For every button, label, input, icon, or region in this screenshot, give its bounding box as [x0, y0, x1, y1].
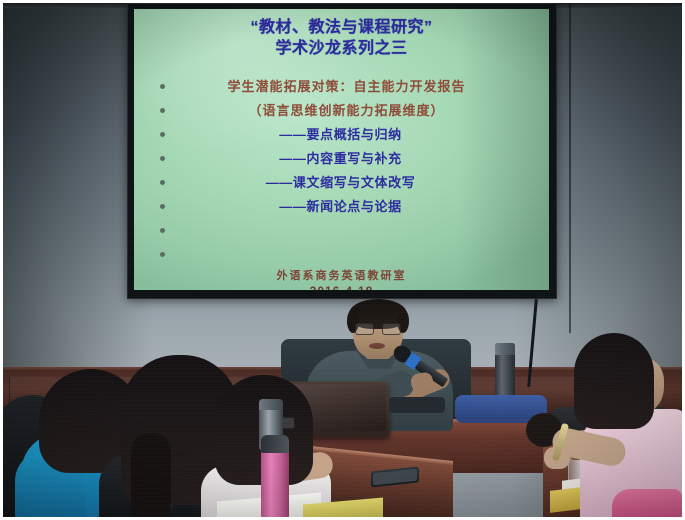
thermos-cap: [259, 399, 283, 410]
wall-seam: [569, 3, 571, 333]
desk-object-dark: [389, 397, 445, 413]
bullet-dot-icon: [160, 252, 165, 257]
slide-bullet-row: ——新闻论点与论据: [160, 195, 539, 219]
slide-bullet-row-empty: [160, 219, 539, 243]
bottle-cap: [261, 435, 289, 453]
bullet-dot-icon: [160, 156, 165, 161]
bullet-dot-icon: [160, 132, 165, 137]
lecture-room-scene: “教材、教法与课程研究” 学术沙龙系列之三 学生潜能拓展对策：自主能力开发报告 …: [3, 3, 682, 517]
slide-bullet-text: 学生潜能拓展对策：自主能力开发报告: [160, 79, 539, 95]
bullet-dot-icon: [160, 84, 165, 89]
slide-title: “教材、教法与课程研究” 学术沙龙系列之三: [134, 17, 549, 59]
audience-ponytail: [131, 433, 171, 517]
slide-bullet-row: 学生潜能拓展对策：自主能力开发报告: [160, 75, 539, 99]
slide-bullet-list: 学生潜能拓展对策：自主能力开发报告 （语言思维创新能力拓展维度） ——要点概括与…: [160, 75, 539, 267]
screen-glare: [134, 9, 405, 191]
screen-right-shading: [458, 9, 549, 290]
slide-bullet-text: ——要点概括与归纳: [160, 127, 539, 143]
audience-pink-shirt-hair: [574, 333, 654, 429]
thermos-cap: [495, 343, 515, 355]
bullet-dot-icon: [160, 204, 165, 209]
presenter-mouth: [369, 343, 385, 349]
slide-footer-organization: 外语系商务英语教研室: [134, 267, 549, 283]
bullet-dot-icon: [160, 108, 165, 113]
slide-bullet-text: ——课文缩写与文体改写: [160, 175, 539, 191]
bullet-dot-icon: [160, 180, 165, 185]
thermos-flask: [495, 343, 515, 403]
slide-bullet-text: （语言思维创新能力拓展维度）: [160, 103, 539, 119]
pink-water-bottle: [261, 435, 289, 517]
slide-bullet-row: ——课文缩写与文体改写: [160, 171, 539, 195]
projection-screen-frame: “教材、教法与课程研究” 学术沙龙系列之三 学生潜能拓展对策：自主能力开发报告 …: [127, 3, 557, 299]
slide-title-line-2: 学术沙龙系列之三: [134, 38, 549, 59]
presenter-glasses: [355, 323, 401, 333]
slide-bullet-row: （语言思维创新能力拓展维度）: [160, 99, 539, 123]
slide-footer-date: 2016-4-18: [134, 284, 549, 290]
slide-bullet-row-empty: [160, 243, 539, 267]
slide-title-line-1: “教材、教法与课程研究”: [134, 17, 549, 38]
slide-bullet-row: ——要点概括与归纳: [160, 123, 539, 147]
slide-bullet-row: ——内容重写与补充: [160, 147, 539, 171]
slide-bullet-text: ——新闻论点与论据: [160, 199, 539, 215]
photograph: “教材、教法与课程研究” 学术沙龙系列之三 学生潜能拓展对策：自主能力开发报告 …: [0, 0, 685, 520]
bullet-dot-icon: [160, 228, 165, 233]
audience-pink-garment: [612, 489, 682, 517]
slide-bullet-text: ——内容重写与补充: [160, 151, 539, 167]
presentation-slide: “教材、教法与课程研究” 学术沙龙系列之三 学生潜能拓展对策：自主能力开发报告 …: [134, 9, 549, 290]
